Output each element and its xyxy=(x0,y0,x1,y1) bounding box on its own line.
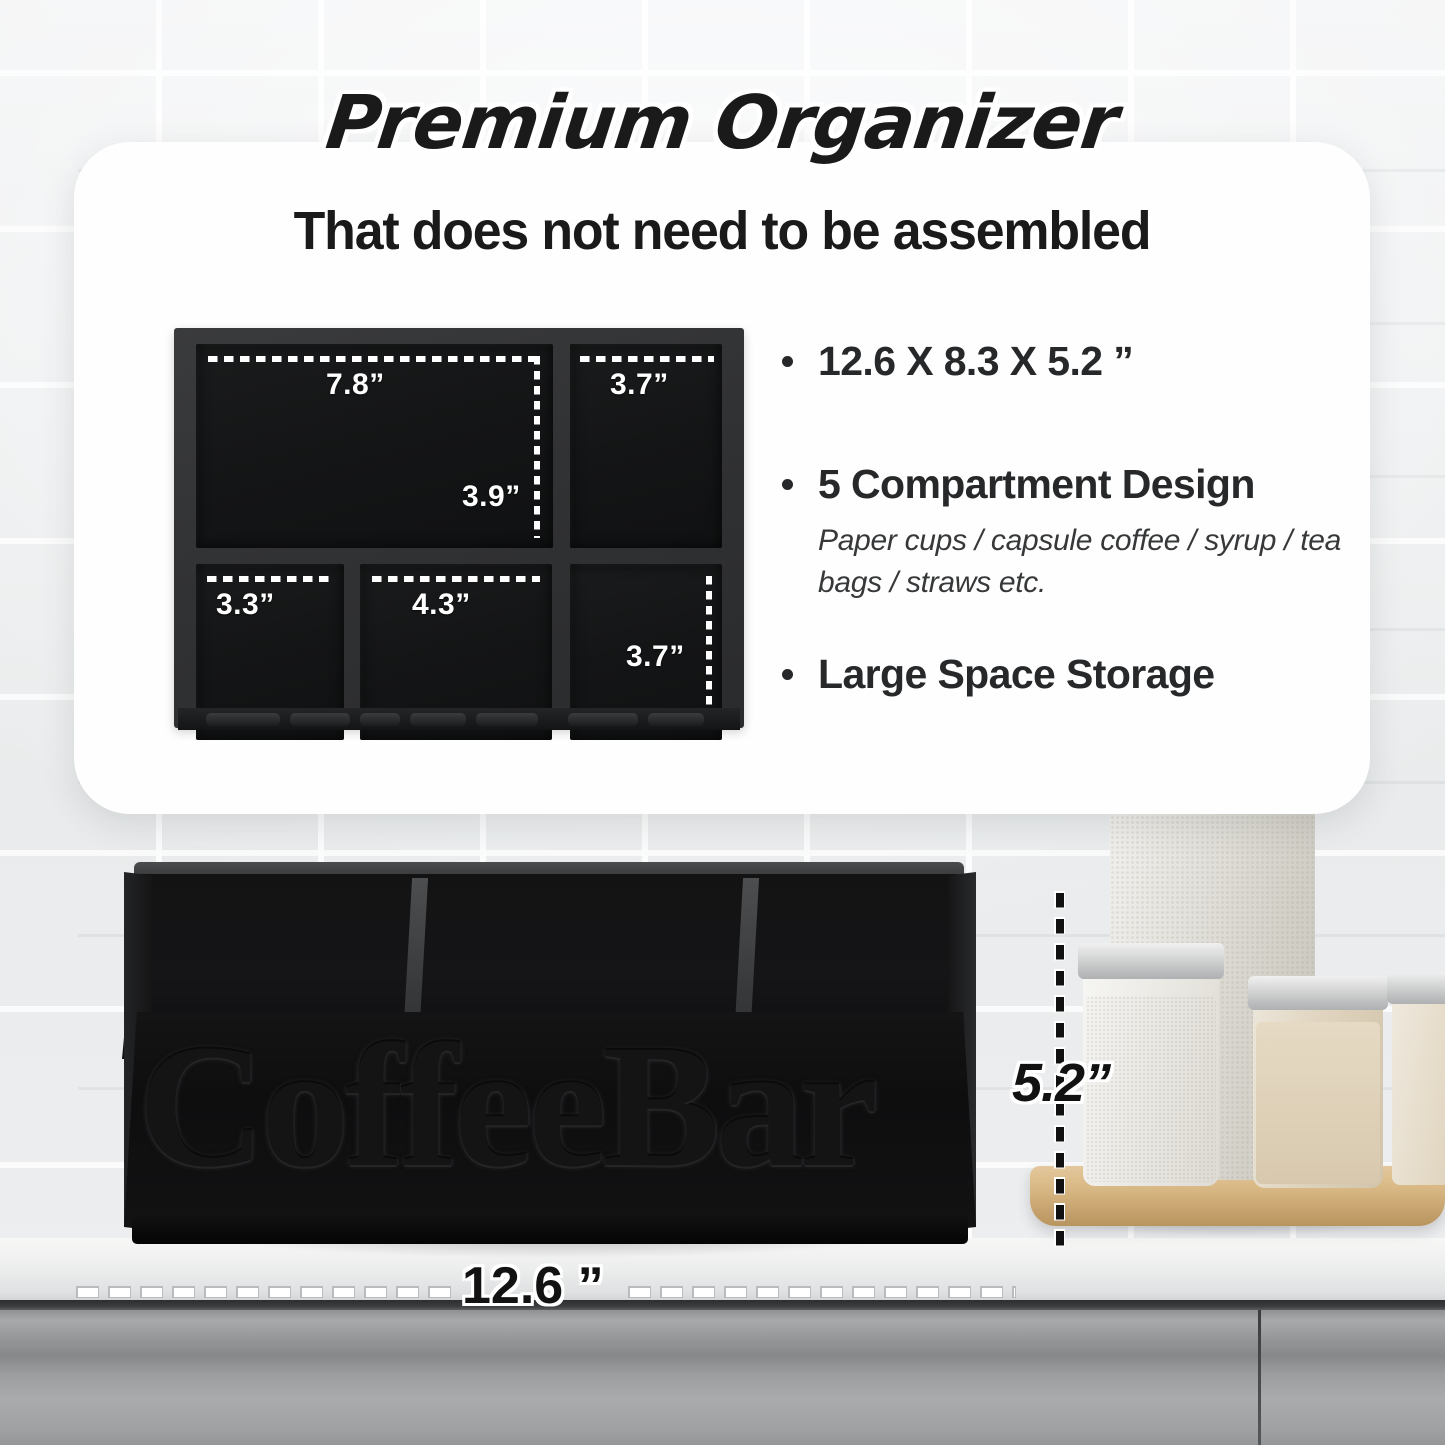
spacer xyxy=(782,399,1342,461)
dash-line-3-3 xyxy=(207,576,333,582)
feature-item-compartments: 5 Compartment Design Paper cups / capsul… xyxy=(782,461,1342,603)
side-jar-lid xyxy=(1387,972,1445,1004)
width-dimension-line-right xyxy=(630,1288,1015,1297)
lower-cabinet xyxy=(0,1310,1445,1445)
diagram-foot xyxy=(410,713,466,726)
info-card: Premium Organizer That does not need to … xyxy=(74,142,1370,814)
diagram-foot xyxy=(648,713,704,726)
width-dimension-label: 12.6 ” xyxy=(462,1256,604,1316)
dash-line-4-3 xyxy=(372,576,540,582)
feature-list: 12.6 X 8.3 X 5.2 ” 5 Compartment Design … xyxy=(782,338,1342,712)
dimension-label-3-3: 3.3” xyxy=(216,588,275,622)
height-dimension-label: 5.2” xyxy=(1012,1052,1110,1114)
dash-line-7-8 xyxy=(208,356,538,362)
compartment-diagram: 7.8” 3.9” 3.7” 3.3” 4.3” 3.7” xyxy=(174,328,744,728)
dimension-label-3-7-top: 3.7” xyxy=(610,368,669,402)
bullet-dot-icon xyxy=(782,479,793,490)
page-subtitle: That does not need to be assembled xyxy=(100,200,1344,262)
coffee-jar-lid xyxy=(1248,976,1388,1010)
dimension-label-4-3: 4.3” xyxy=(412,588,471,622)
organizer-base xyxy=(132,1214,968,1244)
sugar-jar-lid xyxy=(1078,943,1224,979)
diagram-foot xyxy=(360,713,400,726)
feature-item-storage: Large Space Storage xyxy=(782,651,1342,698)
page-title: Premium Organizer xyxy=(69,80,1376,166)
feature-headline: 5 Compartment Design xyxy=(818,461,1342,508)
coffee-jar-contents xyxy=(1256,1022,1380,1184)
feature-item-dimensions: 12.6 X 8.3 X 5.2 ” xyxy=(782,338,1342,385)
dimension-label-3-7-bottom: 3.7” xyxy=(626,640,685,674)
dimension-label-3-9: 3.9” xyxy=(462,480,521,514)
diagram-foot xyxy=(568,713,638,726)
organizer-body: CoffeeBar xyxy=(62,862,1022,1247)
coffee-jar xyxy=(1253,990,1383,1188)
feature-headline: Large Space Storage xyxy=(818,651,1342,698)
dimension-label-7-8: 7.8” xyxy=(326,368,385,402)
dash-line-3-7-bottom xyxy=(706,576,712,728)
cabinet-door-seam xyxy=(1258,1310,1261,1445)
side-jar xyxy=(1392,985,1445,1185)
diagram-foot xyxy=(476,713,538,726)
dash-line-3-7-top xyxy=(580,356,714,362)
diagram-foot xyxy=(290,713,350,726)
bullet-dot-icon xyxy=(782,669,793,680)
diagram-foot xyxy=(206,713,280,726)
feature-headline: 12.6 X 8.3 X 5.2 ” xyxy=(818,338,1342,385)
feature-subtext: Paper cups / capsule coffee / syrup / te… xyxy=(818,520,1342,603)
dash-line-3-9 xyxy=(534,356,540,538)
product-photo-organizer: CoffeeBar xyxy=(62,862,1022,1257)
coffeebar-cutout-text: CoffeeBar xyxy=(138,1012,1038,1202)
width-dimension-line-left xyxy=(78,1288,458,1297)
bullet-dot-icon xyxy=(782,356,793,367)
spacer xyxy=(782,617,1342,651)
